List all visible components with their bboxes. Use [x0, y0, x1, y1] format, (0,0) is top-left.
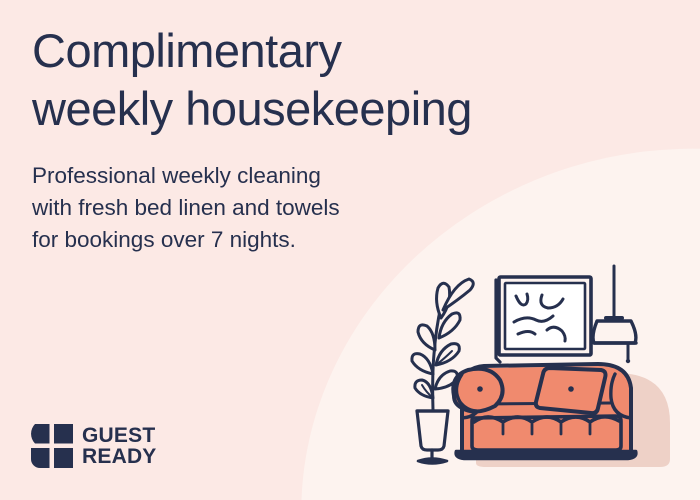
living-room-illustration — [392, 258, 692, 500]
promo-banner: Complimentary weekly housekeeping Profes… — [0, 0, 700, 500]
square-cushion-icon — [536, 368, 606, 413]
coral-sofa-icon — [453, 364, 670, 467]
pendant-lamp-icon — [593, 266, 636, 363]
page-title: Complimentary weekly housekeeping — [32, 22, 632, 138]
guestready-logo: GUEST READY — [31, 424, 157, 468]
framed-picture-icon — [496, 277, 591, 362]
description-text: Professional weekly cleaning with fresh … — [32, 160, 452, 256]
round-cushion-icon — [453, 369, 502, 412]
logo-word-guest: GUEST — [82, 425, 157, 447]
logo-word-ready: READY — [82, 446, 157, 468]
logo-wordmark: GUEST READY — [82, 425, 157, 468]
guestready-quadrant-mark-icon — [31, 424, 73, 468]
